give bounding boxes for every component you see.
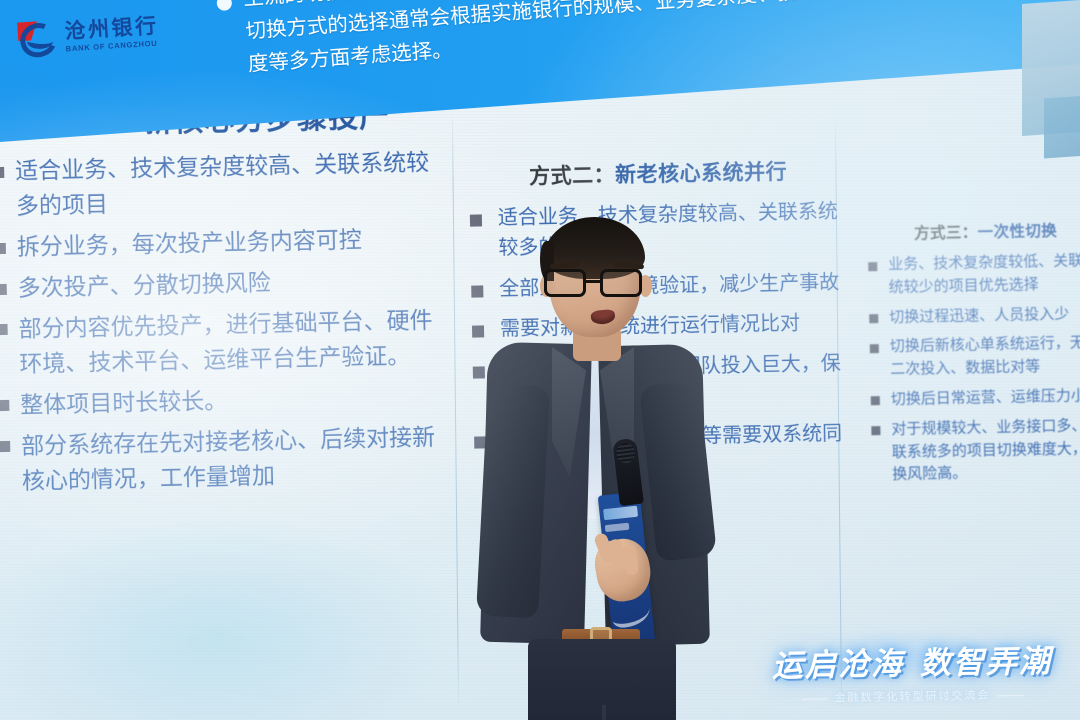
speaker-figure bbox=[470, 215, 720, 720]
banner-body-text: 主流的切换方式为三种：新老核心系统并行使用、新核心分步骤投产、一次性切换、 切换… bbox=[242, 0, 1080, 82]
bullet-square-icon bbox=[871, 397, 880, 406]
bullet-square-icon bbox=[869, 314, 878, 323]
list-item: 切换过程迅速、人员投入少 bbox=[889, 302, 1080, 329]
eyeglasses-icon bbox=[542, 269, 648, 297]
bullet-text: 拆分业务，每次投产业务内容可控 bbox=[17, 226, 362, 260]
bullet-square-icon bbox=[0, 283, 7, 294]
column-3-heading: 方式三：一次性切换 bbox=[865, 218, 1080, 245]
list-item: 切换后新核心单系统运行，无需二次投入、数据比对等 bbox=[890, 332, 1080, 382]
bullet-square-icon bbox=[871, 426, 880, 435]
bullet-text: 部分系统存在先对接老核心、后续对接新核心的情况，工作量增加 bbox=[21, 423, 435, 493]
bullet-square-icon bbox=[0, 441, 10, 452]
speaker-trousers bbox=[528, 639, 676, 720]
bullet-text: 对于规模较大、业务接口多、关联系统多的项目切换难度大，切换风险高。 bbox=[891, 417, 1080, 484]
bullet-square-icon bbox=[0, 400, 9, 411]
speaker-torso bbox=[478, 343, 710, 643]
watermark-title-part1: 运启沧海 bbox=[772, 646, 905, 684]
glasses-lens-right bbox=[600, 269, 642, 297]
bullet-square-icon bbox=[870, 344, 879, 353]
bullet-square-icon bbox=[868, 262, 877, 271]
column-1-bullet-list: 适合业务、技术复杂度较高、关联系统较多的项目 拆分业务，每次投产业务内容可控 多… bbox=[0, 144, 450, 500]
column-3-heading-value: 一次性切换 bbox=[978, 223, 1058, 242]
mic-flag-tag-secondary bbox=[605, 523, 630, 532]
column-3-bullet-list: 业务、技术复杂度较低、关联系统较少的项目优先选择 切换过程迅速、人员投入少 切换… bbox=[866, 250, 1080, 488]
list-item: 对于规模较大、业务接口多、关联系统多的项目切换难度大，切换风险高。 bbox=[891, 414, 1080, 487]
list-item: 切换后日常运营、运维压力小 bbox=[891, 385, 1080, 412]
bullet-square-icon bbox=[0, 167, 4, 178]
slide-column-3: 方式三：一次性切换 业务、技术复杂度较低、关联系统较少的项目优先选择 切换过程迅… bbox=[865, 218, 1080, 495]
bullet-text: 整体项目时长较长。 bbox=[20, 387, 228, 418]
column-3-heading-label: 方式三： bbox=[914, 224, 978, 242]
watermark-title-part2: 数智弄潮 bbox=[920, 644, 1053, 682]
bullet-text: 切换后日常运营、运维压力小 bbox=[891, 387, 1080, 408]
column-2-heading: 方式二：新老核心系统并行 bbox=[467, 154, 850, 191]
glasses-bridge bbox=[586, 280, 602, 283]
mic-flag-tag bbox=[603, 506, 638, 520]
bullet-text: 适合业务、技术复杂度较高、关联系统较多的项目 bbox=[15, 149, 429, 219]
column-2-heading-value: 新老核心系统并行 bbox=[615, 161, 787, 187]
list-item: 整体项目时长较长。 bbox=[20, 378, 449, 422]
event-watermark: 运启沧海数智弄潮 金融数字化转型研讨交流会 bbox=[761, 635, 1062, 706]
speaker-arm-left bbox=[476, 384, 550, 619]
bullet-square-icon bbox=[0, 242, 6, 253]
list-item: 业务、技术复杂度较低、关联系统较少的项目优先选择 bbox=[888, 250, 1080, 300]
watermark-subtitle: 金融数字化转型研讨交流会 bbox=[834, 690, 990, 705]
bank-logo-text: 沧州银行 BANK OF CANGZHOU bbox=[64, 16, 160, 53]
bullet-text: 切换过程迅速、人员投入少 bbox=[889, 305, 1069, 325]
watermark-rule-right bbox=[997, 695, 1023, 696]
column-2-heading-label: 方式二： bbox=[529, 164, 615, 189]
list-item: 适合业务、技术复杂度较高、关联系统较多的项目 bbox=[15, 144, 444, 223]
column-divider-1 bbox=[452, 112, 459, 712]
bullet-square-icon bbox=[0, 324, 8, 335]
bullet-dot-icon bbox=[216, 0, 232, 11]
bullet-text: 切换后新核心单系统运行，无需二次投入、数据比对等 bbox=[890, 334, 1080, 378]
bullet-text: 部分内容优先投产，进行基础平台、硬件环境、技术平台、运维平台生产验证。 bbox=[18, 306, 432, 376]
mic-flag-swoosh bbox=[611, 599, 652, 629]
screen-right-edge-shadow bbox=[1044, 96, 1080, 159]
list-item: 部分系统存在先对接老核心、后续对接新核心的情况，工作量增加 bbox=[21, 419, 450, 498]
bullet-text: 业务、技术复杂度较低、关联系统较少的项目优先选择 bbox=[888, 252, 1080, 296]
list-item: 部分内容优先投产，进行基础平台、硬件环境、技术平台、运维平台生产验证。 bbox=[18, 302, 447, 381]
watermark-rule-left bbox=[801, 698, 827, 699]
bank-logo-emblem-icon bbox=[17, 18, 59, 60]
bullet-text: 多次投产、分散切换风险 bbox=[17, 269, 271, 301]
photo-frame: 方式一：新核心分步骤投产 适合业务、技术复杂度较高、关联系统较多的项目 拆分业务… bbox=[0, 0, 1080, 720]
list-item: 拆分业务，每次投产业务内容可控 bbox=[16, 220, 445, 264]
list-item: 多次投产、分散切换风险 bbox=[17, 261, 446, 305]
slide-column-1: 方式一：新核心分步骤投产 适合业务、技术复杂度较高、关联系统较多的项目 拆分业务… bbox=[0, 90, 450, 506]
watermark-title: 运启沧海数智弄潮 bbox=[761, 635, 1062, 685]
glasses-lens-left bbox=[544, 269, 586, 297]
